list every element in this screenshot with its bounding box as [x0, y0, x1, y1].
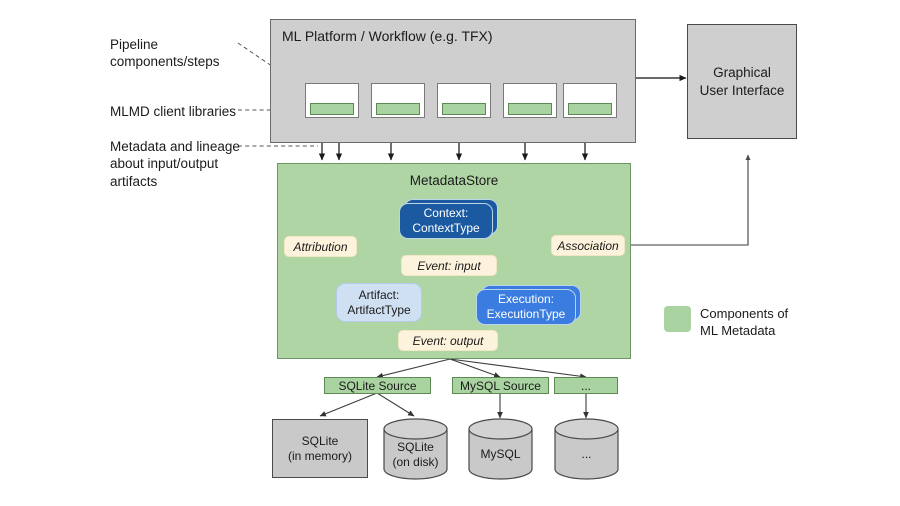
mysql-cylinder[interactable]: MySQL	[468, 418, 533, 480]
sqlite-on-disk-cylinder[interactable]: SQLite (on disk)	[383, 418, 448, 480]
artifact-node[interactable]: Artifact: ArtifactType	[336, 283, 422, 322]
annotation-mlmd-client-libraries: MLMD client libraries	[110, 103, 250, 120]
legend-swatch	[664, 306, 691, 332]
annotation-metadata-lineage: Metadata and lineage about input/output …	[110, 138, 255, 190]
mlmd-client-library-3[interactable]	[442, 103, 486, 115]
mlmd-client-library-5[interactable]	[568, 103, 612, 115]
metadata-store-title: MetadataStore	[277, 173, 631, 188]
context-node[interactable]: Context: ContextType	[399, 203, 493, 239]
other-db-cylinder[interactable]: ...	[554, 418, 619, 480]
event-input-label[interactable]: Event: input	[401, 255, 497, 276]
sqlite-on-disk-label: SQLite (on disk)	[383, 440, 448, 470]
legend-label: Components of ML Metadata	[700, 306, 830, 340]
ml-platform-title: ML Platform / Workflow (e.g. TFX)	[282, 28, 612, 44]
mlmd-client-library-2[interactable]	[376, 103, 420, 115]
association-label[interactable]: Association	[551, 235, 625, 256]
mysql-label: MySQL	[468, 447, 533, 462]
mlmd-client-library-1[interactable]	[310, 103, 354, 115]
sqlite-source-box[interactable]: SQLite Source	[324, 377, 431, 394]
other-source-box[interactable]: ...	[554, 377, 618, 394]
attribution-label[interactable]: Attribution	[284, 236, 357, 257]
mlmd-client-library-4[interactable]	[508, 103, 552, 115]
annotation-pipeline-components: Pipeline components/steps	[110, 36, 245, 71]
graphical-user-interface-box[interactable]: Graphical User Interface	[687, 24, 797, 139]
execution-node[interactable]: Execution: ExecutionType	[476, 289, 576, 325]
ml-metadata-architecture-diagram: Pipeline components/steps MLMD client li…	[0, 0, 900, 506]
mysql-source-box[interactable]: MySQL Source	[452, 377, 549, 394]
event-output-label[interactable]: Event: output	[398, 330, 498, 351]
sqlite-in-memory-box[interactable]: SQLite (in memory)	[272, 419, 368, 478]
other-db-label: ...	[554, 447, 619, 462]
